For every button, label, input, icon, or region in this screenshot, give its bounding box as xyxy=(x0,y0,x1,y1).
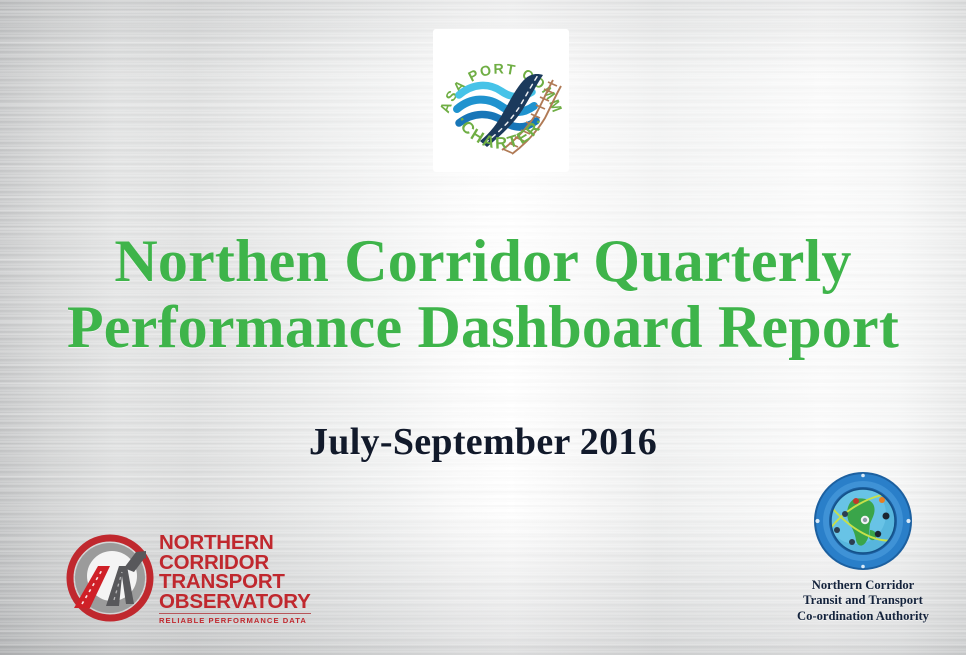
ncto-line-1: NORTHERN xyxy=(159,533,311,553)
title-line-1: Northen Corridor Quarterly xyxy=(0,228,966,294)
ncttca-caption-line-2: Transit and Transport xyxy=(778,593,948,608)
ncttca-emblem-icon: NCTTCA ACTTCA xyxy=(812,470,914,572)
ncto-wordmark: NORTHERN CORRIDOR TRANSPORT OBSERVATORY … xyxy=(159,531,311,625)
title-slide: MOMBASA PORT COMMUNITY xyxy=(0,0,966,655)
ncto-logo: NORTHERN CORRIDOR TRANSPORT OBSERVATORY … xyxy=(64,528,296,628)
report-period-subtitle: July-September 2016 xyxy=(0,419,966,465)
page-title: Northen Corridor Quarterly Performance D… xyxy=(0,228,966,360)
ncttca-caption-line-3: Co-ordination Authority xyxy=(778,609,948,624)
ncttca-logo: NCTTCA ACTTCA xyxy=(778,470,948,624)
mombasa-port-community-charter-icon: MOMBASA PORT COMMUNITY xyxy=(433,29,569,172)
ncto-line-3: TRANSPORT xyxy=(159,572,311,592)
ncto-mark-icon xyxy=(64,532,156,624)
ncto-line-4: OBSERVATORY xyxy=(159,592,311,612)
title-line-2: Performance Dashboard Report xyxy=(0,294,966,360)
ncttca-caption-line-1: Northern Corridor xyxy=(778,578,948,593)
ncto-tagline: RELIABLE PERFORMANCE DATA xyxy=(159,613,311,625)
charter-logo-panel: MOMBASA PORT COMMUNITY xyxy=(433,29,569,172)
ncttca-caption: Northern Corridor Transit and Transport … xyxy=(778,578,948,624)
